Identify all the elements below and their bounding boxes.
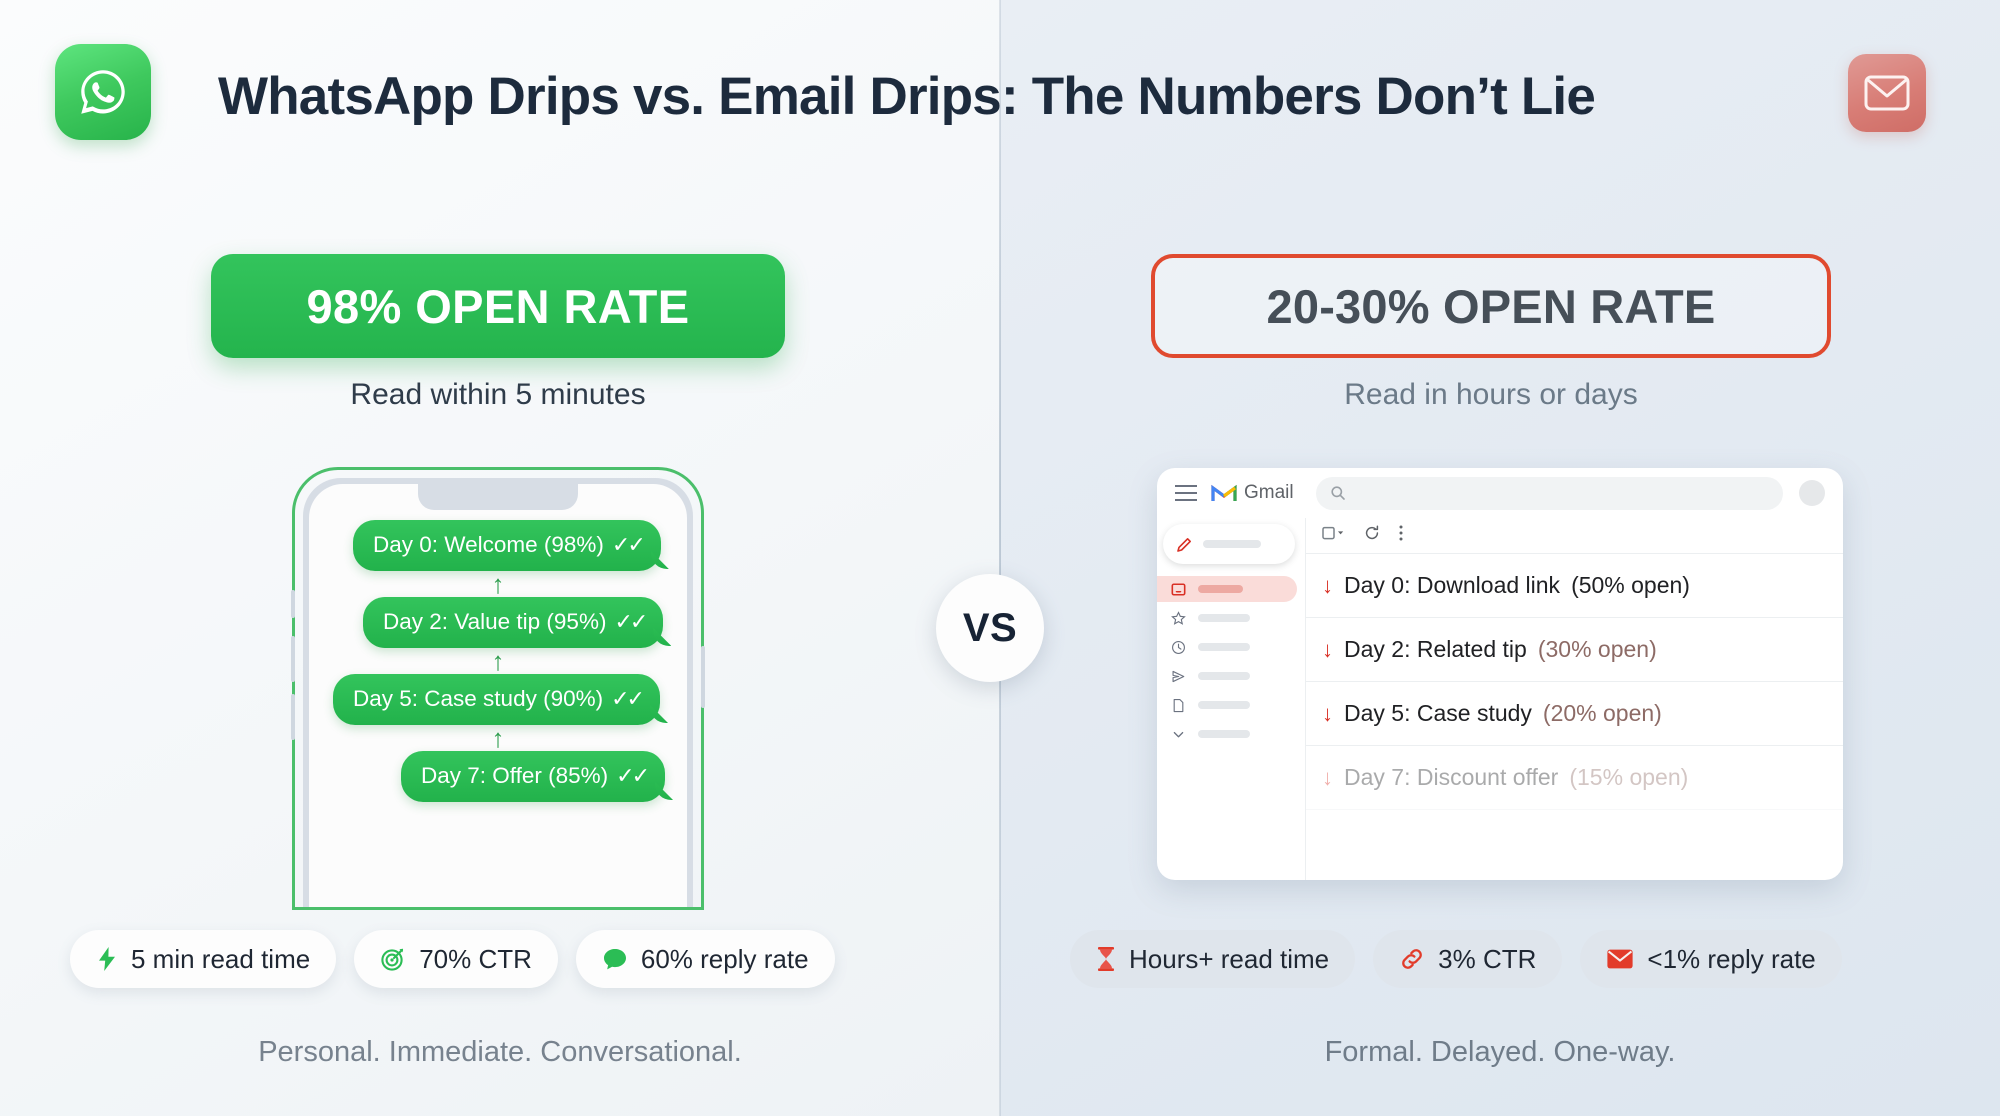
document-icon bbox=[1171, 698, 1186, 713]
sidebar-label-placeholder bbox=[1198, 730, 1250, 738]
whatsapp-stat-pills: 5 min read time 70% CTR 60% reply rate bbox=[70, 930, 835, 988]
chat-bubble[interactable]: Day 2: Value tip (95%)✓✓ bbox=[363, 597, 663, 648]
email-subject: Day 2: Related tip bbox=[1344, 636, 1527, 663]
compose-button[interactable] bbox=[1163, 524, 1295, 564]
stat-pill-label: 5 min read time bbox=[131, 944, 310, 975]
phone-power-button bbox=[701, 646, 705, 708]
down-arrow-icon: ↓ bbox=[1322, 637, 1333, 663]
envelope-icon bbox=[1606, 948, 1634, 970]
phone-mockup: Day 0: Welcome (98%)✓✓ ↑ Day 2: Value ti… bbox=[292, 467, 704, 910]
email-stat-pills: Hours+ read time 3% CTR <1% reply rate bbox=[1070, 930, 1842, 988]
read-receipt-icon: ✓✓ bbox=[614, 609, 645, 634]
sidebar-item-sent[interactable] bbox=[1157, 663, 1305, 689]
vs-badge: VS bbox=[936, 574, 1044, 682]
chain-link-icon bbox=[1399, 946, 1425, 972]
gmail-m-logo-icon bbox=[1211, 483, 1237, 503]
email-open-rate-badge: 20-30% OPEN RATE bbox=[1151, 254, 1831, 358]
gmail-brand: Gmail bbox=[1211, 482, 1294, 504]
search-icon bbox=[1330, 485, 1346, 501]
email-open-percent: (15% open) bbox=[1569, 764, 1688, 791]
chat-bubble-text: Day 5: Case study (90%) bbox=[353, 686, 603, 711]
phone-bezel: Day 0: Welcome (98%)✓✓ ↑ Day 2: Value ti… bbox=[303, 478, 693, 907]
read-receipt-icon: ✓✓ bbox=[611, 686, 642, 711]
stat-pill-label: 60% reply rate bbox=[641, 944, 809, 975]
email-open-percent: (30% open) bbox=[1538, 636, 1657, 663]
refresh-icon[interactable] bbox=[1364, 525, 1380, 546]
phone-mute-button bbox=[291, 590, 295, 618]
gmail-list-toolbar bbox=[1306, 518, 1843, 554]
center-divider bbox=[999, 0, 1001, 1116]
gmail-message-list: ↓ Day 0: Download link (50% open) ↓ Day … bbox=[1305, 518, 1843, 880]
flow-arrow-icon: ↑ bbox=[309, 725, 687, 751]
chat-bubble-text: Day 2: Value tip (95%) bbox=[383, 609, 606, 634]
gmail-mockup: Gmail bbox=[1157, 468, 1843, 880]
lightning-bolt-icon bbox=[96, 946, 118, 972]
email-row[interactable]: ↓ Day 0: Download link (50% open) bbox=[1306, 554, 1843, 618]
sidebar-item-snoozed[interactable] bbox=[1157, 634, 1305, 660]
whatsapp-open-rate-badge: 98% OPEN RATE bbox=[211, 254, 785, 358]
gmail-sidebar bbox=[1157, 518, 1305, 880]
hamburger-menu-icon[interactable] bbox=[1175, 485, 1197, 501]
chat-row: Day 2: Value tip (95%)✓✓ bbox=[309, 597, 687, 648]
sidebar-label-placeholder bbox=[1198, 701, 1250, 709]
envelope-logo-icon bbox=[1848, 54, 1926, 132]
whatsapp-chat-thread: Day 0: Welcome (98%)✓✓ ↑ Day 2: Value ti… bbox=[309, 520, 687, 802]
whatsapp-tagline: Personal. Immediate. Conversational. bbox=[0, 1036, 1000, 1069]
email-open-percent: (20% open) bbox=[1543, 700, 1662, 727]
email-subject: Day 5: Case study bbox=[1344, 700, 1532, 727]
stat-pill-label: 70% CTR bbox=[419, 944, 532, 975]
whatsapp-open-rate-value: 98% OPEN RATE bbox=[306, 279, 689, 334]
email-subject: Day 7: Discount offer bbox=[1344, 764, 1558, 791]
overflow-menu-icon[interactable] bbox=[1398, 524, 1404, 547]
chat-row: Day 7: Offer (85%)✓✓ bbox=[309, 751, 687, 802]
email-open-rate-value: 20-30% OPEN RATE bbox=[1267, 279, 1716, 334]
flow-arrow-icon: ↑ bbox=[309, 648, 687, 674]
avatar[interactable] bbox=[1799, 480, 1825, 506]
chevron-down-icon bbox=[1171, 727, 1186, 742]
header: WhatsApp Drips vs. Email Drips: The Numb… bbox=[0, 44, 2000, 144]
flow-arrow-icon: ↑ bbox=[309, 571, 687, 597]
down-arrow-icon: ↓ bbox=[1322, 573, 1333, 599]
chat-row: Day 0: Welcome (98%)✓✓ bbox=[309, 520, 687, 571]
chat-bubble-text: Day 0: Welcome (98%) bbox=[373, 532, 604, 557]
star-icon bbox=[1171, 611, 1186, 626]
stat-pill-label: <1% reply rate bbox=[1647, 944, 1815, 975]
down-arrow-icon: ↓ bbox=[1322, 701, 1333, 727]
phone-notch bbox=[418, 484, 578, 510]
select-all-checkbox[interactable] bbox=[1322, 526, 1346, 545]
sidebar-item-drafts[interactable] bbox=[1157, 692, 1305, 718]
chat-bubble-text: Day 7: Offer (85%) bbox=[421, 763, 608, 788]
phone-volume-down-button bbox=[291, 694, 295, 740]
hourglass-icon bbox=[1096, 946, 1116, 972]
compose-label-placeholder bbox=[1203, 540, 1261, 548]
gmail-body: ↓ Day 0: Download link (50% open) ↓ Day … bbox=[1157, 518, 1843, 880]
clock-icon bbox=[1171, 640, 1186, 655]
infographic-canvas: WhatsApp Drips vs. Email Drips: The Numb… bbox=[0, 0, 2000, 1116]
inbox-icon bbox=[1171, 582, 1186, 597]
email-subject: Day 0: Download link bbox=[1344, 572, 1560, 599]
sidebar-label-placeholder bbox=[1198, 672, 1250, 680]
chat-bubble[interactable]: Day 5: Case study (90%)✓✓ bbox=[333, 674, 660, 725]
stat-pill-read-time[interactable]: Hours+ read time bbox=[1070, 930, 1355, 988]
sidebar-item-more[interactable] bbox=[1157, 721, 1305, 747]
email-tagline: Formal. Delayed. One-way. bbox=[1000, 1036, 2000, 1069]
chat-row: Day 5: Case study (90%)✓✓ bbox=[309, 674, 687, 725]
down-arrow-icon: ↓ bbox=[1322, 765, 1333, 791]
speech-bubble-icon bbox=[602, 947, 628, 971]
chat-bubble[interactable]: Day 7: Offer (85%)✓✓ bbox=[401, 751, 665, 802]
sidebar-label-placeholder bbox=[1198, 585, 1243, 593]
read-receipt-icon: ✓✓ bbox=[616, 763, 647, 788]
stat-pill-reply-rate[interactable]: 60% reply rate bbox=[576, 930, 835, 988]
whatsapp-logo-icon bbox=[55, 44, 151, 140]
stat-pill-ctr[interactable]: 3% CTR bbox=[1373, 930, 1562, 988]
target-dart-icon bbox=[380, 946, 406, 972]
stat-pill-label: Hours+ read time bbox=[1129, 944, 1329, 975]
email-row[interactable]: ↓ Day 5: Case study (20% open) bbox=[1306, 682, 1843, 746]
email-open-rate-subtitle: Read in hours or days bbox=[1151, 378, 1831, 412]
pencil-icon bbox=[1176, 536, 1193, 553]
sidebar-label-placeholder bbox=[1198, 643, 1250, 651]
chat-bubble[interactable]: Day 0: Welcome (98%)✓✓ bbox=[353, 520, 661, 571]
page-title: WhatsApp Drips vs. Email Drips: The Numb… bbox=[218, 66, 1818, 127]
sidebar-item-inbox[interactable] bbox=[1157, 576, 1297, 602]
stat-pill-read-time[interactable]: 5 min read time bbox=[70, 930, 336, 988]
email-row[interactable]: ↓ Day 7: Discount offer (15% open) bbox=[1306, 746, 1843, 810]
stat-pill-reply-rate[interactable]: <1% reply rate bbox=[1580, 930, 1841, 988]
gmail-brand-label: Gmail bbox=[1244, 482, 1294, 504]
sidebar-label-placeholder bbox=[1198, 614, 1250, 622]
gmail-toolbar: Gmail bbox=[1157, 468, 1843, 518]
phone-screen: Day 0: Welcome (98%)✓✓ ↑ Day 2: Value ti… bbox=[309, 484, 687, 907]
stat-pill-label: 3% CTR bbox=[1438, 944, 1536, 975]
phone-volume-up-button bbox=[291, 636, 295, 682]
read-receipt-icon: ✓✓ bbox=[612, 532, 643, 557]
stat-pill-ctr[interactable]: 70% CTR bbox=[354, 930, 558, 988]
gmail-search-input[interactable] bbox=[1316, 477, 1783, 510]
email-row[interactable]: ↓ Day 2: Related tip (30% open) bbox=[1306, 618, 1843, 682]
sidebar-item-starred[interactable] bbox=[1157, 605, 1305, 631]
send-icon bbox=[1171, 669, 1186, 684]
whatsapp-open-rate-subtitle: Read within 5 minutes bbox=[211, 378, 785, 412]
email-open-percent: (50% open) bbox=[1571, 572, 1690, 599]
